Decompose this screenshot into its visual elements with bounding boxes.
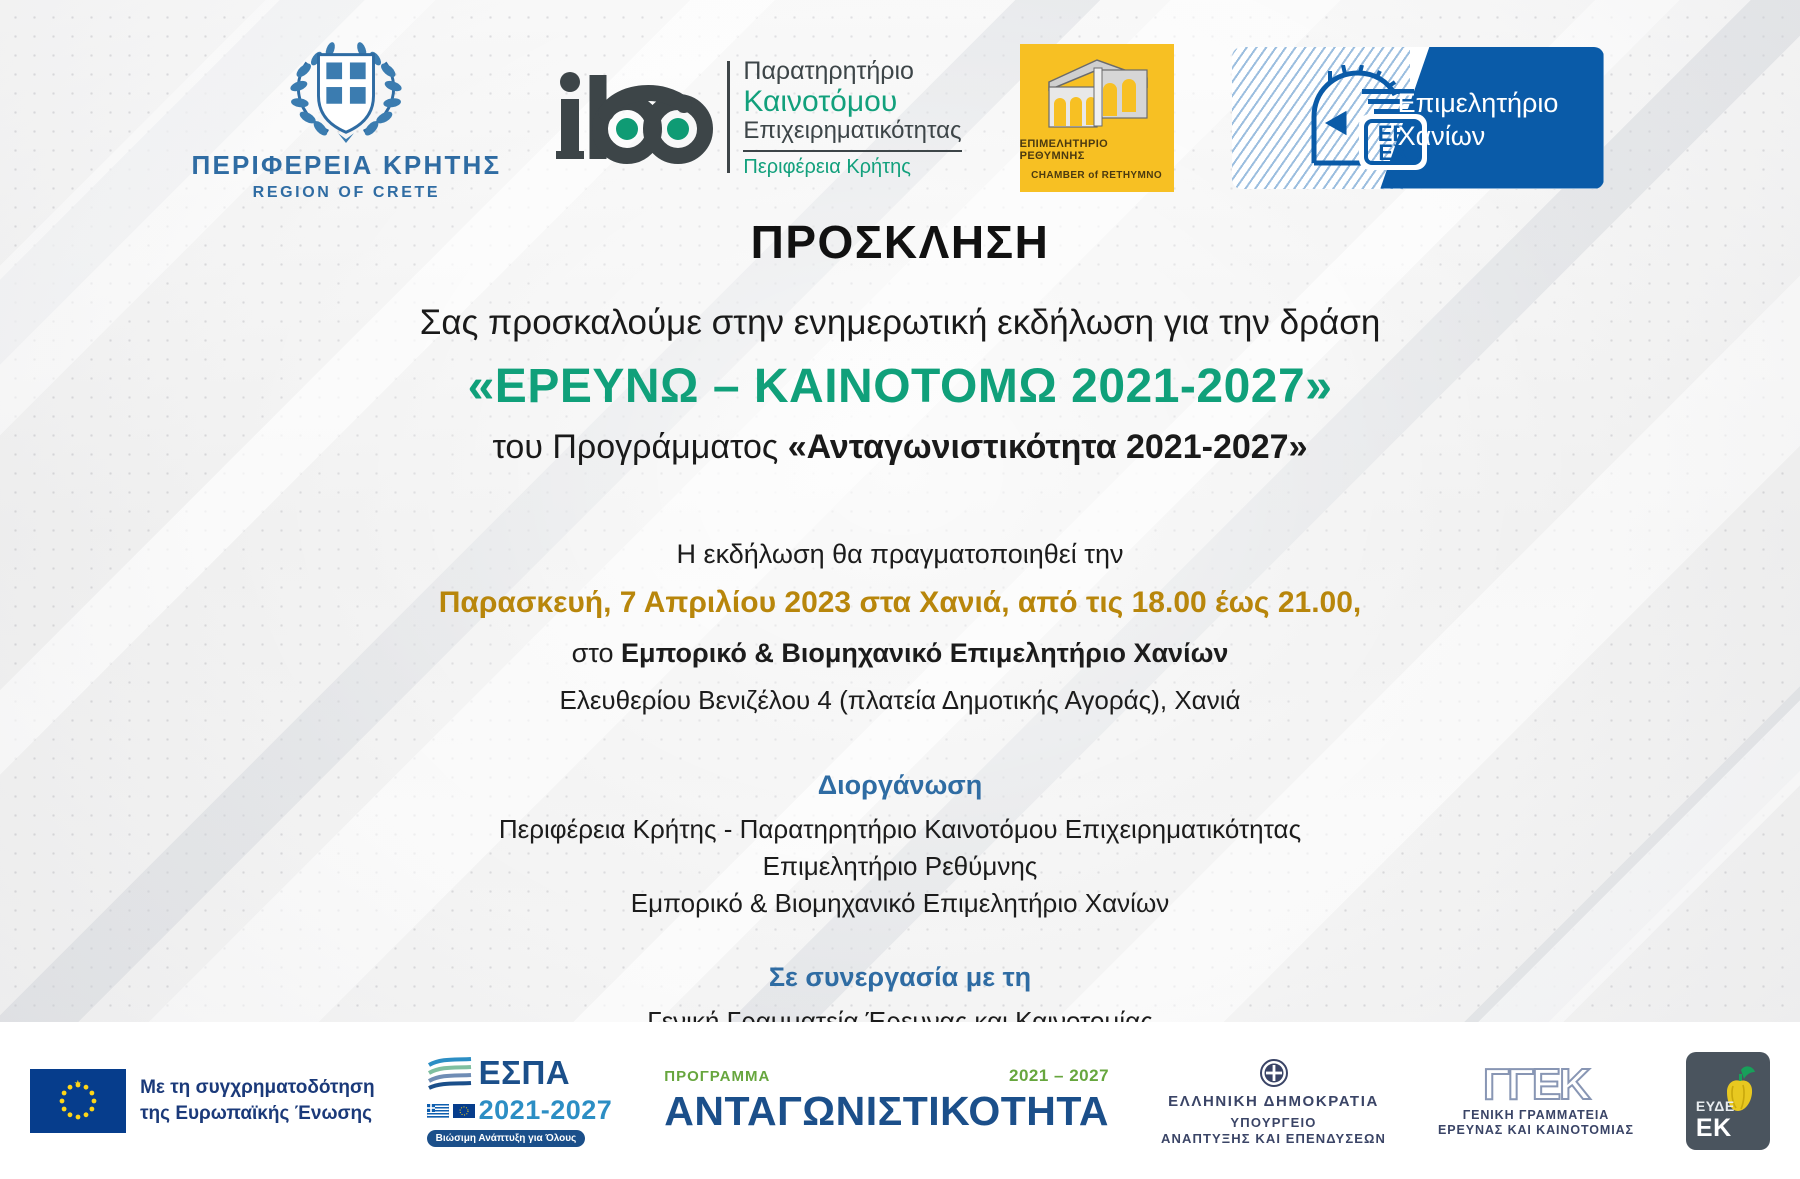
loggia-arcade-building-icon xyxy=(1037,54,1157,132)
espa-years: 2021-2027 xyxy=(479,1095,613,1126)
venue-name: Εμπορικό & Βιομηχανικό Επιμελητήριο Χανί… xyxy=(621,638,1228,668)
event-details: Η εκδήλωση θα πραγματοποιηθεί την Παρασκ… xyxy=(0,539,1800,716)
organizer-item: Περιφέρεια Κρήτης - Παρατηρητήριο Καινοτ… xyxy=(0,811,1800,848)
event-datetime: Παρασκευή, 7 Απριλίου 2023 στα Χανιά, απ… xyxy=(0,586,1800,620)
footer-espa-logo: ΕΣΠΑ 2021-2027 Βιώσιμη Ανάπτυξη για Όλου… xyxy=(427,1054,613,1147)
header-logo-row: ΠΕΡΙΦΕΡΕΙΑ ΚΡΗΤΗΣ REGION OF CRETE Παρατη… xyxy=(0,30,1800,205)
chania-line-1: Επιμελητήριο xyxy=(1398,87,1588,121)
organizers-block: Διοργάνωση Περιφέρεια Κρήτης - Παρατηρητ… xyxy=(0,770,1800,922)
venue-prefix: στο xyxy=(572,638,621,668)
footer-logo-bar: Με τη συγχρηματοδότηση της Ευρωπαϊκής Έν… xyxy=(0,1022,1800,1179)
logo-chamber-of-chania: EB EX Επιμελητήριο Χανίων xyxy=(1232,47,1604,189)
ggek-wordmark: ΓΓΕΚ xyxy=(1483,1064,1589,1106)
event-address: Ελευθερίου Βενιζέλου 4 (πλατεία Δημοτική… xyxy=(0,685,1800,716)
page-title: ΠΡΟΣΚΛΗΣΗ xyxy=(0,215,1800,269)
eu-flag-icon xyxy=(30,1069,126,1133)
program-name: «Ανταγωνιστικότητα 2021-2027» xyxy=(788,428,1308,466)
footer-ggek-logo: ΓΓΕΚ ΓΕΝΙΚΗ ΓΡΑΜΜΑΤΕΙΑ ΕΡΕΥΝΑΣ ΚΑΙ ΚΑΙΝΟ… xyxy=(1438,1064,1634,1138)
event-venue: στο Εμπορικό & Βιομηχανικό Επιμελητήριο … xyxy=(0,638,1800,669)
espa-flag-row: 2021-2027 xyxy=(427,1095,613,1126)
footer-eyde-ek-logo: ΕΥΔΕ ΕΚ xyxy=(1686,1052,1770,1150)
eu-line-1: Με τη συγχρηματοδότηση xyxy=(140,1075,375,1101)
rethymno-title-en: CHAMBER of RETHYMNO xyxy=(1031,170,1162,181)
footer-eu-cofunding: Με τη συγχρηματοδότηση της Ευρωπαϊκής Έν… xyxy=(30,1069,375,1133)
ggek-line-1: ΓΕΝΙΚΗ ΓΡΑΜΜΑΤΕΙΑ xyxy=(1463,1108,1609,1122)
cooperation-heading: Σε συνεργασία με τη xyxy=(0,962,1800,993)
greek-flag-icon xyxy=(427,1104,449,1118)
hellenic-line-2: ΥΠΟΥΡΓΕΙΟ xyxy=(1230,1115,1316,1130)
organizer-item: Επιμελητήριο Ρεθύμνης xyxy=(0,848,1800,885)
ibo-rule xyxy=(743,150,961,152)
eyde-line-1: ΕΥΔΕ xyxy=(1696,1098,1735,1114)
eyde-line-2: ΕΚ xyxy=(1696,1114,1732,1143)
poster-body: ΠΡΟΣΚΛΗΣΗ Σας προσκαλούμε στην ενημερωτι… xyxy=(0,215,1800,1077)
espa-top-row: ΕΣΠΑ xyxy=(427,1054,570,1092)
hellenic-line-3: ΑΝΑΠΤΥΞΗΣ ΚΑΙ ΕΠΕΝΔΥΣΕΩΝ xyxy=(1161,1131,1386,1146)
logo-chamber-of-rethymno: ΕΠΙΜΕΛΗΤΗΡΙΟ ΡΕΘΥΜΝΗΣ CHAMBER of RETHYMN… xyxy=(1020,44,1174,192)
program-prefix: του Προγράμματος xyxy=(492,428,787,466)
espa-wordmark: ΕΣΠΑ xyxy=(479,1054,570,1092)
event-intro: Η εκδήλωση θα πραγματοποιηθεί την xyxy=(0,539,1800,570)
greek-coat-of-arms-icon xyxy=(1257,1056,1291,1090)
antagonistikotita-top-row: ΠΡΟΓΡΑΜΜΑ 2021 – 2027 xyxy=(664,1066,1109,1086)
logo-ibo-observatory: Παρατηρητήριο Καινοτόμου Επιχειρηματικότ… xyxy=(554,57,961,179)
ibo-infinity-wordmark-icon xyxy=(554,69,714,165)
footer-antagonistikotita-logo: ΠΡΟΓΡΑΜΜΑ 2021 – 2027 ΑΝΤΑΓΩΝΙΣΤΙΚΟΤΗΤΑ xyxy=(664,1066,1109,1135)
logo-region-of-crete: ΠΕΡΙΦΕΡΕΙΑ ΚΡΗΤΗΣ REGION OF CRETE xyxy=(196,33,496,202)
antagonistikotita-name: ΑΝΤΑΓΩΝΙΣΤΙΚΟΤΗΤΑ xyxy=(664,1088,1109,1135)
ibo-line-2: Καινοτόμου xyxy=(743,85,961,119)
antagonistikotita-years: 2021 – 2027 xyxy=(1009,1066,1109,1086)
ibo-divider xyxy=(727,61,730,173)
antagonistikotita-program-label: ΠΡΟΓΡΑΜΜΑ xyxy=(664,1068,770,1085)
ibo-line-3: Επιχειρηματικότητας xyxy=(743,118,961,145)
region-of-crete-title-gr: ΠΕΡΙΦΕΡΕΙΑ ΚΡΗΤΗΣ xyxy=(191,150,501,181)
footer-hellenic-republic-logo: ΕΛΛΗΝΙΚΗ ΔΗΜΟΚΡΑΤΙΑ ΥΠΟΥΡΓΕΙΟ ΑΝΑΠΤΥΞΗΣ … xyxy=(1161,1056,1386,1146)
ibo-text-block: Παρατηρητήριο Καινοτόμου Επιχειρηματικότ… xyxy=(743,57,961,179)
espa-tagline: Βιώσιμη Ανάπτυξη για Όλους xyxy=(427,1130,586,1147)
chania-line-2: Χανίων xyxy=(1398,120,1588,154)
organizers-heading: Διοργάνωση xyxy=(0,770,1800,801)
ibo-line-1: Παρατηρητήριο xyxy=(743,57,961,85)
ibo-line-4: Περιφέρεια Κρήτης xyxy=(743,156,961,178)
region-of-crete-title-en: REGION OF CRETE xyxy=(253,184,440,202)
eu-mini-flag-icon xyxy=(453,1104,475,1118)
hellenic-line-1: ΕΛΛΗΝΙΚΗ ΔΗΜΟΚΡΑΤΙΑ xyxy=(1168,1093,1379,1110)
eu-line-2: της Ευρωπαϊκής Ένωσης xyxy=(140,1101,375,1127)
invitation-poster: ΠΕΡΙΦΕΡΕΙΑ ΚΡΗΤΗΣ REGION OF CRETE Παρατη… xyxy=(0,0,1800,1179)
eu-cofunding-text: Με τη συγχρηματοδότηση της Ευρωπαϊκής Έν… xyxy=(140,1075,375,1126)
invitation-lead-text: Σας προσκαλούμε στην ενημερωτική εκδήλωσ… xyxy=(0,303,1800,343)
program-line: του Προγράμματος «Ανταγωνιστικότητα 2021… xyxy=(0,428,1800,467)
espa-waves-icon xyxy=(427,1056,473,1090)
ggek-line-2: ΕΡΕΥΝΑΣ ΚΑΙ ΚΑΙΝΟΤΟΜΙΑΣ xyxy=(1438,1123,1634,1137)
organizer-item: Εμπορικό & Βιομηχανικό Επιμελητήριο Χανί… xyxy=(0,885,1800,922)
chania-text-block: Επιμελητήριο Χανίων xyxy=(1398,87,1588,155)
rethymno-title-gr: ΕΠΙΜΕΛΗΤΗΡΙΟ ΡΕΘΥΜΝΗΣ xyxy=(1020,138,1174,162)
greek-coat-of-arms-laurel-icon xyxy=(287,33,405,145)
action-name: «ΕΡΕΥΝΩ – ΚΑΙΝΟΤΟΜΩ 2021-2027» xyxy=(0,359,1800,414)
